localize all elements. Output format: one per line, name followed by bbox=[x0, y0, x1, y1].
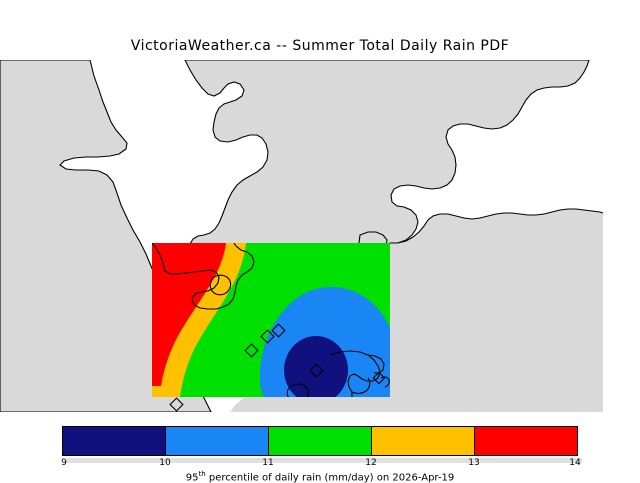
colorbar-segment-3[interactable] bbox=[371, 427, 474, 455]
colorbar-tick-4: 13 bbox=[468, 458, 479, 468]
colorbar-container: 9 10 11 12 13 14 95th percentile of dail… bbox=[0, 424, 640, 480]
band-9-10 bbox=[284, 336, 348, 404]
caption-superscript: th bbox=[199, 470, 206, 478]
colorbar-tick-5: 14 bbox=[569, 458, 580, 468]
caption-pre: 95 bbox=[186, 472, 199, 483]
colorbar[interactable] bbox=[62, 426, 578, 456]
map-panel bbox=[0, 60, 640, 412]
colorbar-tick-1: 10 bbox=[159, 458, 170, 468]
colorbar-segment-4[interactable] bbox=[474, 427, 577, 455]
colorbar-caption: 95th percentile of daily rain (mm/day) o… bbox=[0, 470, 640, 483]
map-canvas bbox=[0, 60, 640, 412]
colorbar-segment-2[interactable] bbox=[268, 427, 371, 455]
caption-post: percentile of daily rain (mm/day) on 202… bbox=[206, 472, 455, 483]
colorbar-tick-0: 9 bbox=[61, 458, 67, 468]
colorbar-tick-3: 12 bbox=[365, 458, 376, 468]
contour-bands bbox=[152, 243, 390, 404]
page-title: VictoriaWeather.ca -- Summer Total Daily… bbox=[0, 38, 640, 54]
colorbar-tick-2: 11 bbox=[262, 458, 273, 468]
colorbar-segment-1[interactable] bbox=[165, 427, 268, 455]
colorbar-segment-0[interactable] bbox=[63, 427, 165, 455]
